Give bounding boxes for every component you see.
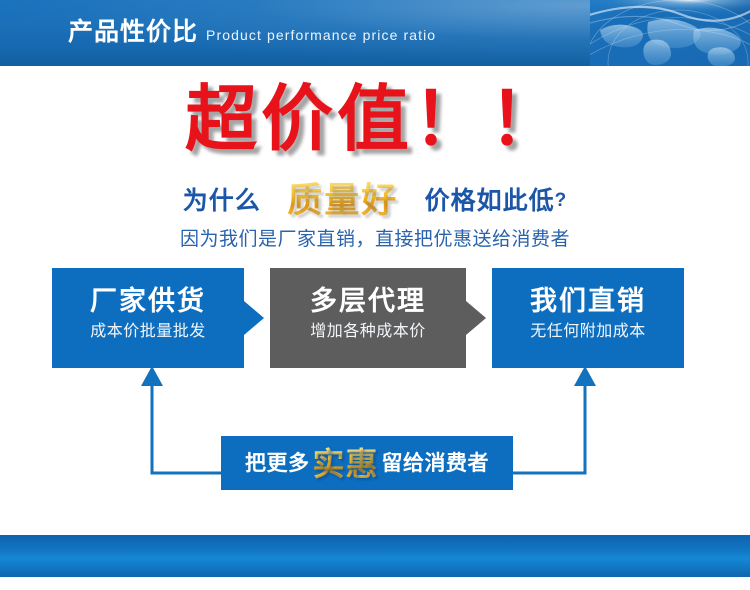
header-banner: 产品性价比 Product performance price ratio — [0, 0, 750, 66]
flow-box-subtitle: 无任何附加成本 — [492, 322, 684, 342]
flow-box-manufacturer: 厂家供货 成本价批量批发 — [52, 268, 244, 368]
flow-box-title: 我们直销 — [492, 285, 684, 317]
reason-text: 因为我们是厂家直销，直接把优惠送给消费者 — [0, 228, 750, 252]
flow-diagram: 厂家供货 成本价批量批发 多层代理 增加各种成本价 我们直销 无任何附加成本 — [52, 268, 684, 368]
footer-bar — [0, 535, 750, 577]
subtitle-why: 为什么 — [183, 186, 261, 216]
chevron-right-icon — [244, 301, 264, 335]
subtitle-price: 价格如此低 — [425, 186, 555, 216]
flow-box-title: 厂家供货 — [52, 285, 244, 317]
subtitle-question-mark: ? — [555, 186, 568, 216]
flow-box-agents: 多层代理 增加各种成本价 — [270, 268, 466, 368]
bottom-banner: 把更多实惠留给消费者 — [221, 436, 513, 490]
flow-box-subtitle: 成本价批量批发 — [52, 322, 244, 342]
banner-highlight: 实惠 — [312, 447, 378, 481]
flow-box-subtitle: 增加各种成本价 — [270, 322, 466, 342]
flow-box-title: 多层代理 — [270, 285, 466, 317]
world-globe-icon — [590, 0, 750, 66]
flow-box-direct-sales: 我们直销 无任何附加成本 — [492, 268, 684, 368]
promo-page: 产品性价比 Product performance price ratio 超价… — [0, 0, 750, 590]
arrow-up-connector-icon-right — [513, 366, 596, 473]
arrow-up-connector-icon-left — [141, 366, 221, 473]
header-title-cn: 产品性价比 — [68, 20, 198, 45]
subtitle-quality: 质量好 — [287, 182, 398, 220]
banner-suffix: 留给消费者 — [382, 451, 490, 477]
chevron-right-icon — [466, 301, 486, 335]
header-title-en: Product performance price ratio — [206, 28, 436, 42]
subtitle-row: 为什么 质量好 价格如此低? — [0, 182, 750, 220]
banner-prefix: 把更多 — [245, 451, 310, 477]
main-headline: 超价值！！ — [0, 78, 750, 162]
